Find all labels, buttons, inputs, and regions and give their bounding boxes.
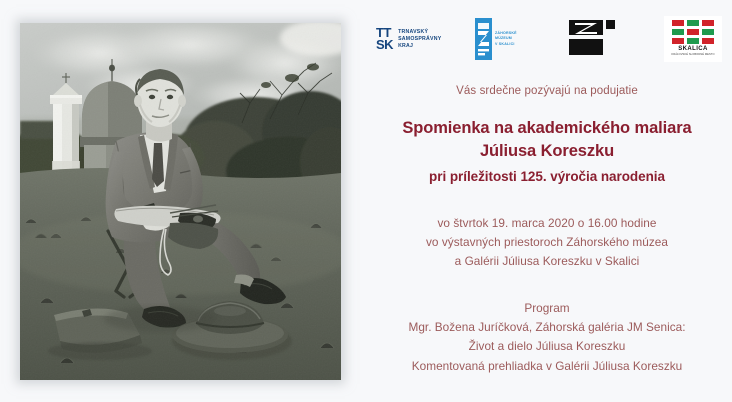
- skalica-block: [702, 38, 714, 44]
- ttsk-word-1: TRNAVSKÝ: [398, 29, 441, 36]
- photo-panel: [0, 0, 362, 402]
- black-z-icon: [569, 18, 623, 58]
- invitation-intro: Vás srdečne pozývajú na podujatie: [362, 86, 732, 117]
- zahorske-muzeum-z-mark: [475, 18, 492, 60]
- program-item-2: Život a dielo Júliusa Koreszku: [362, 337, 732, 356]
- ttsk-mark-line2: SK: [376, 39, 393, 51]
- invitation-text: Vás srdečne pozývajú na podujatie Spomie…: [362, 86, 732, 376]
- skalica-block: [702, 29, 714, 35]
- mesto-skalica-logo: SKALICA KRÁĽOVSKÉ SLOBODNÉ MESTO: [664, 16, 722, 62]
- zm-z-icon: [475, 18, 492, 60]
- skalica-block: [702, 20, 714, 26]
- zahorske-muzeum-skalica-logo: ZÁHORSKÉ MÚZEUM V SKALICI: [475, 16, 557, 62]
- event-datetime: vo štvrtok 19. marca 2020 o 16.00 hodine: [362, 214, 732, 233]
- spacer: [362, 184, 732, 214]
- ttsk-monogram: TT SK: [376, 27, 393, 51]
- zahorske-muzeum-wordmark: ZÁHORSKÉ MÚZEUM V SKALICI: [495, 31, 517, 47]
- skalica-wordmark: SKALICA: [667, 46, 719, 53]
- event-title-line-1: Spomienka na akademického maliara: [362, 117, 732, 140]
- invitation-panel: TT SK TRNAVSKÝ SAMOSPRÁVNY KRAJ: [362, 0, 732, 402]
- julius-koreszka-photo: [20, 23, 341, 380]
- skalica-block: [687, 38, 699, 44]
- ttsk-word-2: SAMOSPRÁVNY: [398, 36, 441, 43]
- skalica-block: [672, 38, 684, 44]
- event-title-line-2: Júliusa Koreszku: [362, 140, 732, 163]
- skalica-block: [672, 29, 684, 35]
- program-item-3: Komentovaná prehliadka v Galérii Júliusa…: [362, 357, 732, 376]
- program-heading: Program: [362, 299, 732, 318]
- event-venue-line-2: a Galérii Júliusa Koreszku v Skalici: [362, 252, 732, 271]
- skalica-block: [672, 20, 684, 26]
- program-item-1: Mgr. Božena Juríčková, Záhorská galéria …: [362, 318, 732, 337]
- trnavsky-samospravny-kraj-logo: TT SK TRNAVSKÝ SAMOSPRÁVNY KRAJ: [376, 16, 474, 62]
- skalica-block: [687, 29, 699, 35]
- skalica-block: [687, 20, 699, 26]
- zahorska-galeria-logo: [569, 16, 631, 62]
- ttsk-wordmark: TRNAVSKÝ SAMOSPRÁVNY KRAJ: [398, 29, 441, 50]
- logo-bar: TT SK TRNAVSKÝ SAMOSPRÁVNY KRAJ: [362, 16, 732, 64]
- event-venue-line-1: vo výstavných priestoroch Záhorského múz…: [362, 233, 732, 252]
- zm-word-3: V SKALICI: [495, 42, 517, 47]
- event-subtitle: pri príležitosti 125. výročia narodenia: [362, 163, 732, 184]
- spacer: [362, 271, 732, 299]
- photo-image: [20, 23, 341, 380]
- zahorska-galeria-z-mark: [569, 18, 623, 58]
- skalica-subtitle: KRÁĽOVSKÉ SLOBODNÉ MESTO: [667, 53, 719, 57]
- skalica-blocks: [672, 20, 714, 44]
- ttsk-word-3: KRAJ: [398, 43, 441, 50]
